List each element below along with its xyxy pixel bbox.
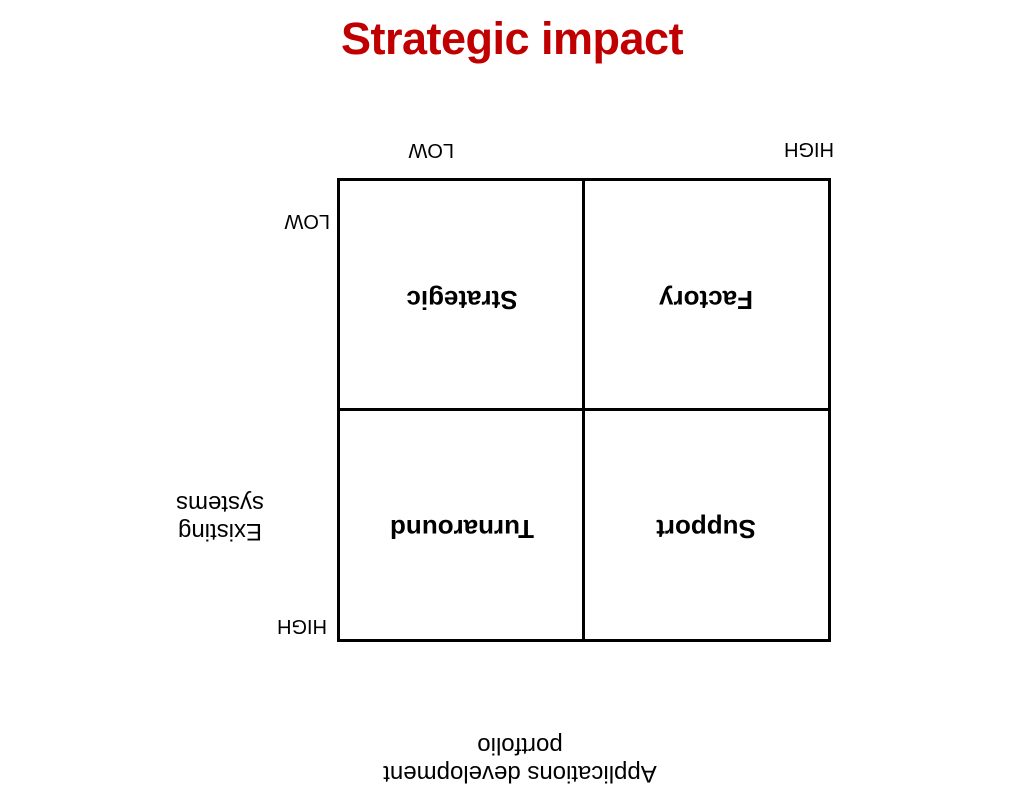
page-title: Strategic impact: [0, 14, 1024, 64]
vertical-axis-title-line1: Existing: [140, 517, 300, 545]
vertical-axis-title: Existing systems: [140, 488, 300, 545]
vertical-axis-tick-high: HIGH: [277, 616, 327, 636]
vertical-axis-tick-low: LOW: [284, 211, 330, 231]
horizontal-axis-title-line1: Applications development: [290, 759, 750, 787]
quadrant-label-turnaround: Turnaround: [390, 513, 534, 544]
quadrant-label-support: Support: [656, 513, 756, 544]
quadrant-label-factory: Factory: [659, 284, 753, 315]
quadrant-label-strategic: Strategic: [406, 284, 517, 315]
quadrant-bottom-left: Factory: [584, 181, 828, 410]
horizontal-axis-tick-high: HIGH: [784, 139, 834, 159]
two-by-two-matrix: Support Turnaround Factory Strategic: [337, 178, 831, 642]
quadrant-bottom-right: Strategic: [340, 181, 584, 410]
slide-canvas: Strategic impact Applications developmen…: [0, 0, 1024, 791]
quadrant-top-left: Support: [584, 410, 828, 639]
rotated-slide-body: Applications development portfolio Exist…: [0, 100, 1024, 791]
quadrant-top-right: Turnaround: [340, 410, 584, 639]
horizontal-axis-title: Applications development portfolio: [290, 730, 750, 787]
horizontal-axis-title-line2: portfolio: [290, 730, 750, 758]
horizontal-axis-tick-low: LOW: [408, 140, 454, 160]
vertical-axis-title-line2: systems: [140, 488, 300, 516]
